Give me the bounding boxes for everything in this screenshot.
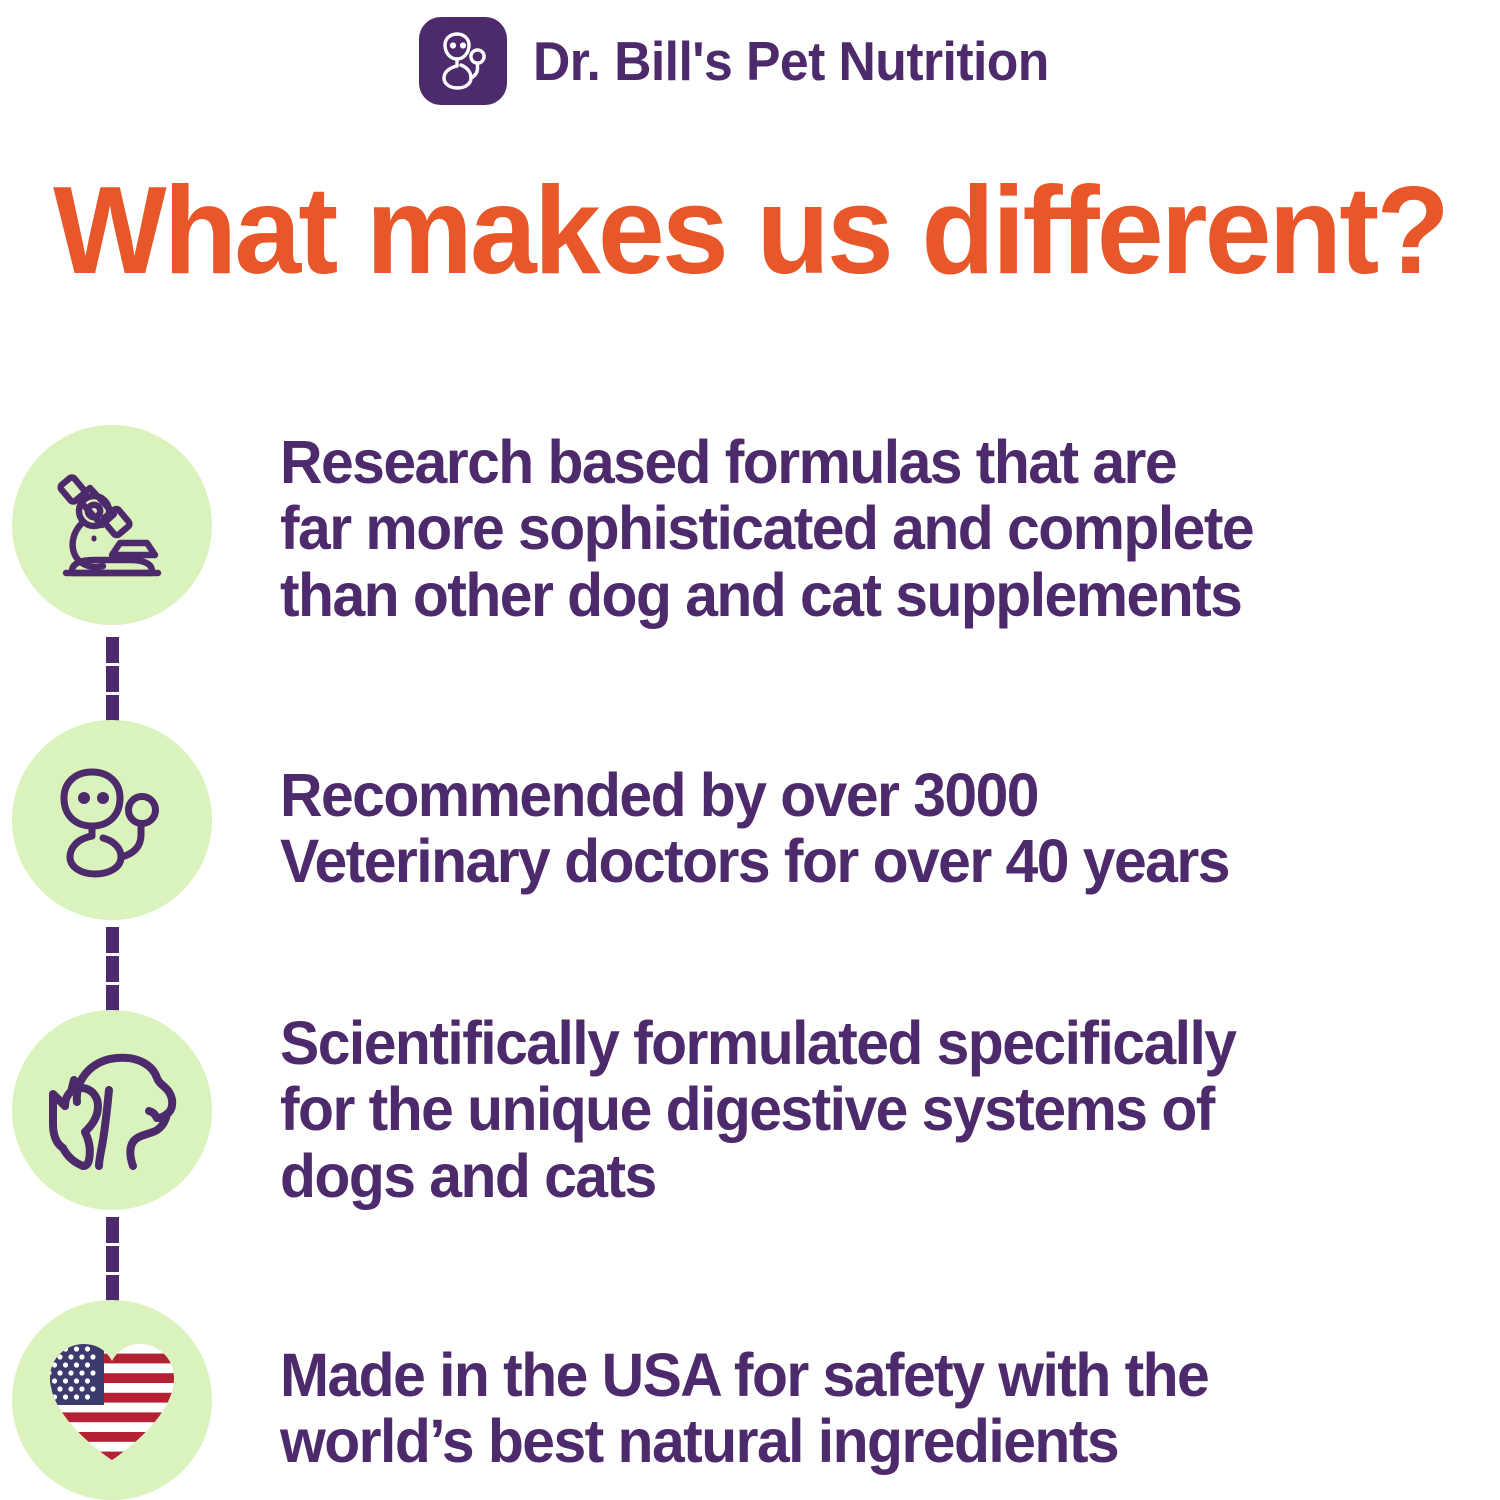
- stethoscope-face-icon: [431, 29, 495, 93]
- feature-line: Scientifically formulated specifically: [280, 1010, 1430, 1076]
- feature-line: dogs and cats: [280, 1143, 1430, 1209]
- infographic-page: Dr. Bill's Pet Nutrition What makes us d…: [0, 0, 1500, 1500]
- usa-flag-heart-icon: [42, 1334, 182, 1466]
- feature-icon-bubble: [12, 720, 212, 920]
- feature-icon-bubble: [12, 1300, 212, 1500]
- page-title: What makes us different?: [23, 168, 1478, 294]
- feature-line: Research based formulas that are: [280, 429, 1430, 495]
- brand-logo-tile: [419, 17, 507, 105]
- feature-icon-bubble: [12, 1010, 212, 1210]
- feature-line: Made in the USA for safety with the: [280, 1342, 1430, 1408]
- feature-line: Recommended by over 3000: [280, 762, 1430, 828]
- feature-text: Research based formulas that are far mor…: [280, 429, 1457, 628]
- feature-line: than other dog and cat supplements: [280, 562, 1430, 628]
- dog-and-cat-icon: [41, 1044, 183, 1176]
- feature-icon-bubble: [12, 425, 212, 625]
- feature-item-research: Research based formulas that are far mor…: [0, 425, 1500, 628]
- feature-item-dogs-and-cats: Scientifically formulated specifically f…: [0, 1010, 1500, 1210]
- feature-line: Veterinary doctors for over 40 years: [280, 828, 1430, 894]
- brand-header: Dr. Bill's Pet Nutrition: [0, 6, 1500, 116]
- brand-name: Dr. Bill's Pet Nutrition: [533, 34, 1049, 89]
- feature-text: Made in the USA for safety with the worl…: [280, 1342, 1457, 1475]
- feature-list: Research based formulas that are far mor…: [0, 415, 1500, 1500]
- feature-item-vet-recommended: Recommended by over 3000 Veterinary doct…: [0, 720, 1500, 920]
- dashed-connector-2: [106, 927, 119, 1011]
- feature-item-made-in-usa: Made in the USA for safety with the worl…: [0, 1300, 1500, 1500]
- dashed-connector-3: [106, 1217, 119, 1301]
- feature-line: world’s best natural ingredients: [280, 1408, 1430, 1474]
- feature-line: far more sophisticated and complete: [280, 495, 1430, 561]
- stethoscope-face-icon: [46, 754, 178, 886]
- feature-text: Scientifically formulated specifically f…: [280, 1010, 1457, 1209]
- microscope-icon: [50, 463, 174, 587]
- feature-text: Recommended by over 3000 Veterinary doct…: [280, 762, 1457, 895]
- feature-line: for the unique digestive systems of: [280, 1076, 1430, 1142]
- dashed-connector-1: [106, 637, 119, 721]
